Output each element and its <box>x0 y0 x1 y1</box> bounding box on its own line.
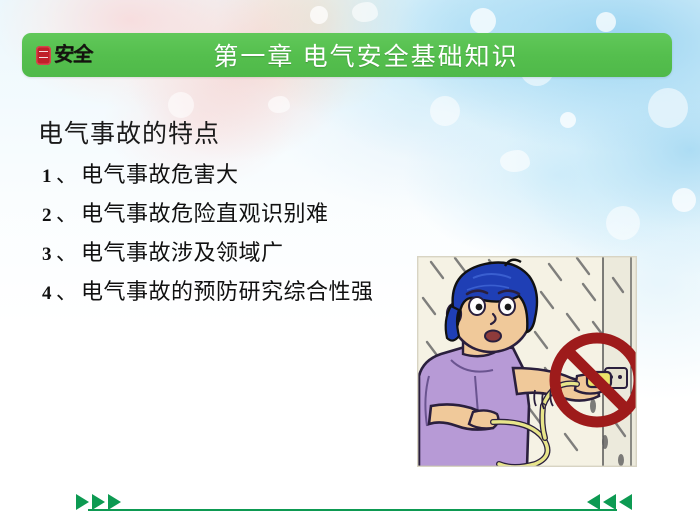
list-item-separator: 、 <box>56 198 77 228</box>
list-item-number: 3 <box>42 244 56 266</box>
safety-cartoon-image <box>417 256 637 467</box>
list-item-label: 电气事故危害大 <box>81 157 239 189</box>
list-item-label: 电气事故涉及领域广 <box>81 235 284 267</box>
slide-canvas: 安全 第一章 电气安全基础知识 电气事故的特点 1 、 电气事故危害大 2 、 … <box>0 0 700 525</box>
feature-list: 1 、 电气事故危害大 2 、 电气事故危险直观识别难 3 、 电气事故涉及领域… <box>42 157 374 313</box>
page-title: 第一章 电气安全基础知识 <box>22 33 672 77</box>
chevron-right-icon <box>92 494 105 510</box>
list-item-number: 1 <box>42 166 56 188</box>
list-item: 2 、 电气事故危险直观识别难 <box>42 196 374 235</box>
list-item: 3 、 电气事故涉及领域广 <box>42 235 374 274</box>
chapter-title-banner: 安全 第一章 电气安全基础知识 <box>22 33 672 77</box>
chevron-right-icon <box>76 494 89 510</box>
footer-chevrons-left <box>76 494 121 510</box>
list-item: 4 、 电气事故的预防研究综合性强 <box>42 274 374 313</box>
section-heading: 电气事故的特点 <box>38 114 220 150</box>
list-item-separator: 、 <box>56 159 77 189</box>
footer-divider <box>88 509 617 511</box>
list-item-number: 4 <box>42 283 56 305</box>
chevron-left-icon <box>587 494 600 510</box>
chevron-left-icon <box>603 494 616 510</box>
chevron-right-icon <box>108 494 121 510</box>
list-item-separator: 、 <box>56 276 77 306</box>
footer-chevrons-right <box>587 494 632 510</box>
cartoon-svg <box>417 256 637 467</box>
list-item: 1 、 电气事故危害大 <box>42 157 374 196</box>
list-item-label: 电气事故危险直观识别难 <box>81 196 329 228</box>
list-item-label: 电气事故的预防研究综合性强 <box>81 274 374 306</box>
list-item-separator: 、 <box>56 237 77 267</box>
chevron-left-icon <box>619 494 632 510</box>
list-item-number: 2 <box>42 205 56 227</box>
